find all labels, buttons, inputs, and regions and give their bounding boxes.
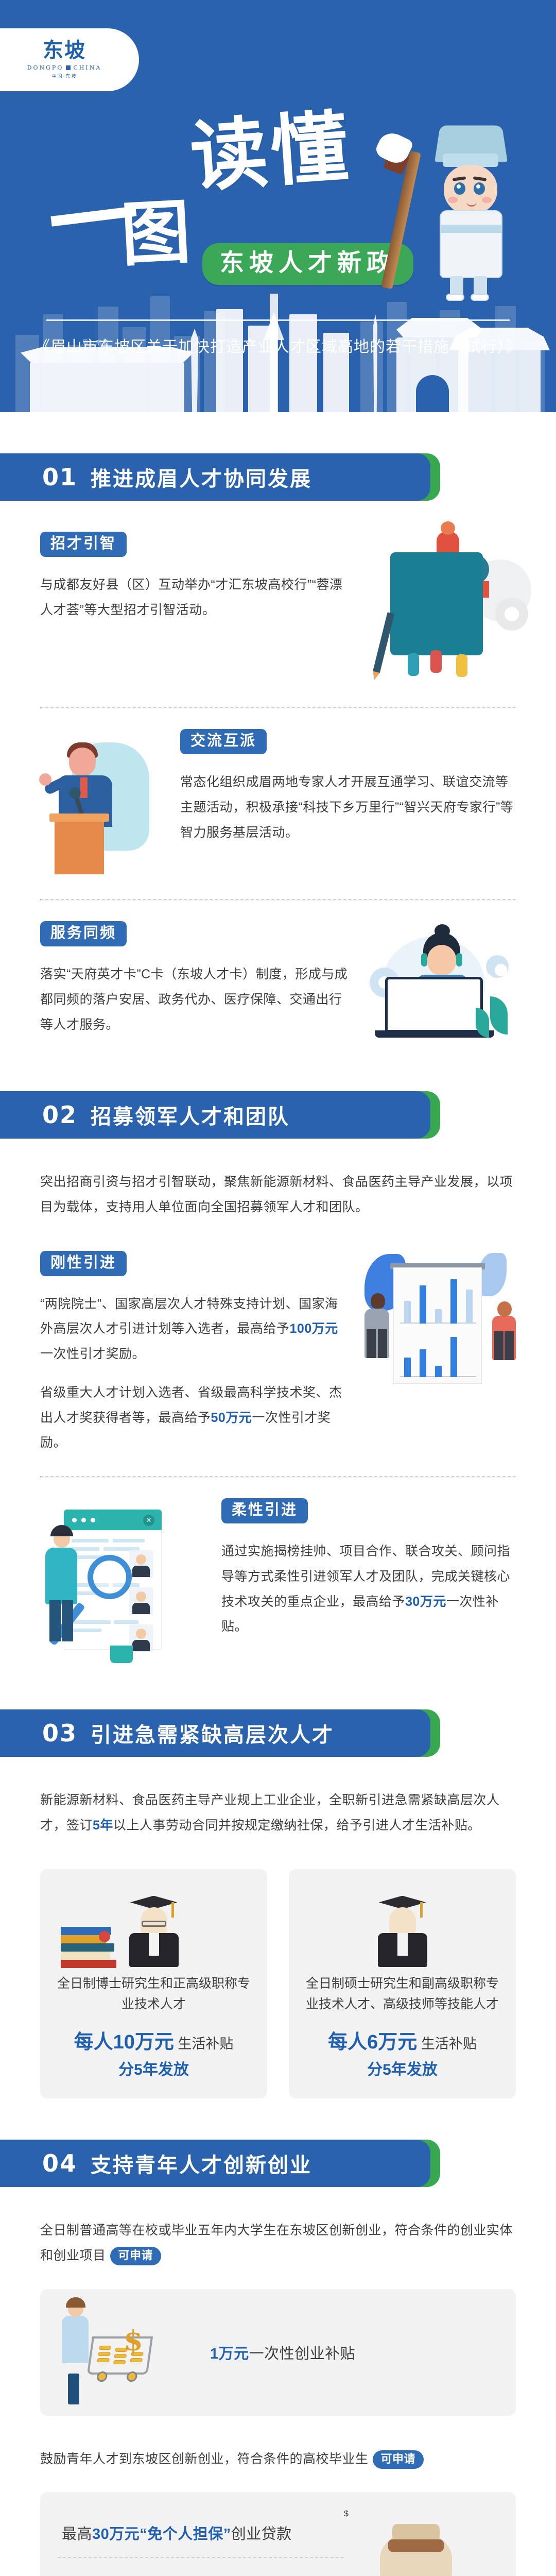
scholar-books-illustration bbox=[51, 1887, 256, 1969]
recruiting-illustration: 专业优秀人才 招聘会 bbox=[358, 532, 528, 686]
resume-search-illustration: ✕ bbox=[40, 1498, 210, 1668]
item-paragraph-2: 省级重大人才计划入选者、省级最高科学技术奖、杰出人才奖获得者等，最高给予50万元… bbox=[40, 1380, 349, 1455]
hero-word-dudong: 读懂 bbox=[188, 108, 354, 196]
card-description: 全日制硕士研究生和副高级职称专业技术人才、高级技师等技能人才 bbox=[300, 1973, 505, 2015]
loan-row-2: 小微企业创业贷款最高400万元 bbox=[58, 2558, 344, 2576]
hall-roof-icon bbox=[21, 347, 194, 363]
policy-item-gangxingyinjin: 刚性引进 “两院院士”、国家高层次人才特殊支持计划、国家海外高层次人才引进计划等… bbox=[40, 1251, 516, 1456]
person-icon bbox=[408, 653, 419, 676]
temple-icon bbox=[458, 350, 541, 412]
card-description: 全日制博士研究生和正高级职称专业技术人才 bbox=[51, 1973, 256, 2015]
money-bag-neck-icon bbox=[392, 2524, 440, 2541]
item-tag: 刚性引进 bbox=[40, 1251, 127, 1276]
card-note: 分5年发放 bbox=[300, 2059, 505, 2081]
apple-icon bbox=[99, 1931, 110, 1942]
subsidy-card-list: 全日制博士研究生和正高级职称专业技术人才 每人10万元 生活补贴 分5年发放 全… bbox=[40, 1869, 516, 2099]
loan-row-1: 最高30万元“免个人担保”创业贷款 bbox=[58, 2510, 344, 2557]
section-title: 推进成眉人才协同发展 bbox=[91, 462, 312, 492]
section-intro: 新能源新材料、食品医药主导产业规上工业企业，全职新引进急需紧缺高层次人才，签订5… bbox=[40, 1788, 516, 1838]
apply-badge[interactable]: 可申请 bbox=[373, 2450, 424, 2469]
laptop-icon bbox=[385, 977, 483, 1032]
panel-statement: 1万元一次性创业补贴 bbox=[210, 2342, 355, 2363]
mascot-dongpo-icon bbox=[413, 124, 531, 299]
avatar bbox=[129, 1587, 153, 1615]
hero-green-banner: 东坡人才新政 bbox=[202, 243, 413, 285]
loan1-post: 创业贷款 bbox=[231, 2526, 292, 2543]
laptop-base-icon bbox=[375, 1030, 494, 1038]
infographic-page: 东坡 DONGPO CHINA 中国·东坡 读懂 一 图 东坡人才新政 bbox=[0, 0, 556, 2576]
intro2-text: 鼓励青年人才到东坡区创新创业，符合条件的高校毕业生 bbox=[40, 2452, 369, 2466]
policy-item-fuwutongpin: 服务同频 落实“天府英才卡”C卡（东坡人才卡）制度，形成与成都同频的落户安居、政… bbox=[40, 921, 516, 1050]
item-tag: 招才引智 bbox=[40, 532, 127, 557]
leaf-icon bbox=[490, 996, 508, 1035]
mascot-sash-icon bbox=[441, 225, 501, 233]
mascot-mouth-icon bbox=[466, 202, 477, 207]
card-amount-block: 每人10万元 生活补贴 分5年发放 bbox=[51, 2028, 256, 2081]
subsidy-card-master: 全日制硕士研究生和副高级职称专业技术人才、高级技师等技能人才 每人6万元 生活补… bbox=[289, 1869, 516, 2099]
item-tag: 服务同频 bbox=[40, 921, 127, 946]
logo-en-left: DONGPO bbox=[27, 64, 64, 71]
head-icon bbox=[427, 945, 456, 976]
card-note: 分5年发放 bbox=[51, 2059, 256, 2081]
person-left-icon bbox=[364, 1309, 389, 1358]
radio-tower-icon bbox=[270, 294, 278, 412]
section-intro: 全日制普通高等在校或毕业五年内大学生在东坡区创新创业，符合条件的创业实体和创业项… bbox=[40, 2218, 516, 2268]
graduate-illustration bbox=[300, 1887, 505, 1969]
headset-left-icon bbox=[421, 953, 427, 967]
gown-icon bbox=[378, 1933, 427, 1967]
card-amount-suffix: 生活补贴 bbox=[421, 2036, 477, 2052]
mascot-face-icon bbox=[444, 165, 497, 214]
person-icon bbox=[62, 2316, 89, 2363]
section-number: 03 bbox=[42, 1719, 77, 1747]
section-intro: 突出招商引资与招才引智联动，聚焦新能源新材料、食品医药主导产业发展，以项目为载体… bbox=[40, 1170, 516, 1220]
panel-text: 一次性创业补贴 bbox=[249, 2346, 356, 2362]
item-tag: 交流互派 bbox=[180, 729, 267, 754]
mascot-eye-right-icon bbox=[474, 182, 485, 195]
panel-amount: 1万元 bbox=[210, 2346, 249, 2362]
section-header-02: 02 招募领军人才和团队 bbox=[0, 1091, 440, 1139]
hero-green-label: 东坡人才新政 bbox=[220, 249, 396, 277]
mascot-brow-left-icon bbox=[453, 176, 466, 181]
tassel-icon bbox=[420, 1902, 423, 1918]
plant-icon bbox=[110, 1646, 133, 1663]
para1-amount: 100万元 bbox=[290, 1321, 338, 1336]
section-title: 引进急需紧缺高层次人才 bbox=[91, 1718, 334, 1748]
startup-loan-panel: 最高30万元“免个人担保”创业贷款 小微企业创业贷款最高400万元 bbox=[40, 2492, 516, 2576]
section-number: 01 bbox=[42, 463, 77, 491]
card-amount-block: 每人6万元 生活补贴 分5年发放 bbox=[300, 2028, 505, 2081]
customer-service-illustration bbox=[361, 921, 516, 1050]
loan1-pre: 最高 bbox=[62, 2526, 92, 2543]
brand-logo: 东坡 DONGPO CHINA 中国·东坡 bbox=[0, 28, 139, 91]
magnifier-icon bbox=[88, 1555, 132, 1599]
hall-plaque-icon: 眉山东坡 bbox=[82, 338, 109, 346]
speaker-illustration bbox=[40, 729, 169, 878]
book-stack-icon bbox=[61, 1924, 117, 1968]
hero-banner: 东坡 DONGPO CHINA 中国·东坡 读懂 一 图 东坡人才新政 bbox=[0, 0, 556, 412]
logo-chinese-text: 东坡 bbox=[43, 40, 86, 61]
loan1-amount: 30万元 bbox=[92, 2526, 140, 2543]
item-body: 常态化组织成眉两地专家人才开展互通学习、联谊交流等主题活动，积极承接“科技下乡万… bbox=[180, 770, 516, 845]
cart-wheel-icon bbox=[126, 2371, 138, 2382]
gear-icon bbox=[495, 598, 528, 631]
shopping-cart-illustration: $ bbox=[58, 2303, 197, 2401]
cart-icon bbox=[87, 2336, 153, 2375]
policy-item-zhaocaiyinzhi: 招才引智 与成都友好县（区）互动举办“才汇东坡高校行”“蓉漂人才荟”等大型招才引… bbox=[40, 532, 516, 686]
tassel-icon bbox=[171, 1902, 174, 1918]
tie-icon bbox=[80, 777, 88, 798]
dollar-icon: $ bbox=[124, 2324, 143, 2357]
para1-post: 一次性引才奖励。 bbox=[40, 1347, 145, 1361]
item-body: 通过实施揭榜挂帅、项目合作、联合攻关、顾问指导等方式柔性引进领军人才及团队，完成… bbox=[221, 1539, 516, 1639]
section-header-03: 03 引进急需紧缺高层次人才 bbox=[0, 1709, 440, 1757]
money-bag-illustration: $ bbox=[344, 2510, 498, 2576]
item-body: 与成都友好县（区）互动举办“才汇东坡高校行”“蓉漂人才荟”等大型招才引智活动。 bbox=[40, 572, 349, 623]
gear-icon bbox=[486, 955, 509, 978]
section-number: 02 bbox=[42, 1101, 77, 1129]
gown-icon bbox=[129, 1933, 179, 1967]
item-paragraph-1: “两院院士”、国家高层次人才特殊支持计划、国家海外高层次人才引进计划等入选者，最… bbox=[40, 1292, 349, 1367]
section-title: 支持青年人才创新创业 bbox=[91, 2148, 312, 2178]
loan1-quoted: “免个人担保” bbox=[140, 2526, 231, 2543]
glasses-icon bbox=[142, 1921, 166, 1927]
subsidy-card-phd: 全日制博士研究生和正高级职称专业技术人才 每人10万元 生活补贴 分5年发放 bbox=[40, 1869, 267, 2099]
headset-right-icon bbox=[456, 953, 462, 967]
logo-subtitle: 中国·东坡 bbox=[52, 73, 77, 79]
logo-en-right: CHINA bbox=[73, 64, 101, 71]
section-header-01: 01 推进成眉人才协同发展 bbox=[0, 453, 440, 501]
policy-item-rouxingyinjin: ✕ 柔性引进 通过实施揭榜挂帅、项目合作、联合攻关、顾问指导等方式柔性引进领军人… bbox=[40, 1498, 516, 1668]
logo-square-icon bbox=[66, 65, 71, 70]
city-skyline-illustration: 眉山东坡 bbox=[0, 283, 556, 412]
close-icon: ✕ bbox=[143, 1515, 154, 1526]
person-right-icon bbox=[492, 1316, 516, 1360]
intro-post: 以上人事劳动合同并按规定缴纳社保，给予引进人才生活补贴。 bbox=[113, 1818, 481, 1833]
intro-amount: 5年 bbox=[93, 1818, 113, 1833]
head-icon bbox=[69, 748, 96, 776]
section-title: 招募领军人才和团队 bbox=[91, 1100, 290, 1130]
hero-word-tu: 图 bbox=[119, 197, 193, 270]
card-amount: 每人6万元 bbox=[328, 2031, 417, 2053]
mascot-eye-left-icon bbox=[454, 182, 465, 195]
section-number: 04 bbox=[42, 2149, 77, 2177]
chart-board-illustration bbox=[361, 1251, 516, 1405]
item-tag: 柔性引进 bbox=[221, 1498, 308, 1523]
card-amount-suffix: 生活补贴 bbox=[178, 2036, 233, 2052]
mascot-brow-right-icon bbox=[473, 176, 487, 181]
avatar bbox=[129, 1550, 153, 1578]
podium-icon bbox=[55, 820, 104, 874]
body-amount: 30万元 bbox=[405, 1595, 446, 1609]
card-amount: 每人10万元 bbox=[74, 2031, 174, 2053]
policy-item-jiaoliuhupai: 交流互派 常态化组织成眉两地专家人才开展互通学习、联谊交流等主题活动，积极承接“… bbox=[40, 729, 516, 878]
dollar-icon: $ bbox=[344, 2510, 498, 2519]
cart-wheel-icon bbox=[96, 2371, 108, 2382]
apply-badge[interactable]: 可申请 bbox=[110, 2247, 162, 2265]
mascot-cheek-left-icon bbox=[448, 197, 458, 203]
mascot-cheek-right-icon bbox=[482, 197, 492, 203]
para2-amount: 50万元 bbox=[211, 1411, 252, 1425]
person-icon bbox=[430, 650, 442, 673]
person-icon bbox=[456, 654, 467, 677]
section-intro-2: 鼓励青年人才到东坡区创新创业，符合条件的高校毕业生可申请 bbox=[40, 2447, 516, 2472]
hand-icon bbox=[39, 773, 51, 786]
decorative-blob-icon bbox=[479, 1253, 507, 1296]
item-body: 落实“天府英才卡”C卡（东坡人才卡）制度，形成与成都同频的落户安居、政务代办、医… bbox=[40, 962, 349, 1037]
money-bag-tie-icon bbox=[388, 2539, 444, 2552]
section-header-04: 04 支持青年人才创新创业 bbox=[0, 2140, 440, 2187]
hall-building-icon bbox=[30, 363, 184, 412]
logo-english-text: DONGPO CHINA bbox=[27, 64, 102, 71]
chart-board-icon bbox=[393, 1267, 482, 1384]
person-icon bbox=[45, 1548, 77, 1604]
mascot-robe-icon bbox=[440, 210, 502, 278]
window-titlebar-icon: ✕ bbox=[64, 1510, 162, 1530]
startup-subsidy-panel: $ 1万元一次性创业补贴 bbox=[40, 2289, 516, 2416]
